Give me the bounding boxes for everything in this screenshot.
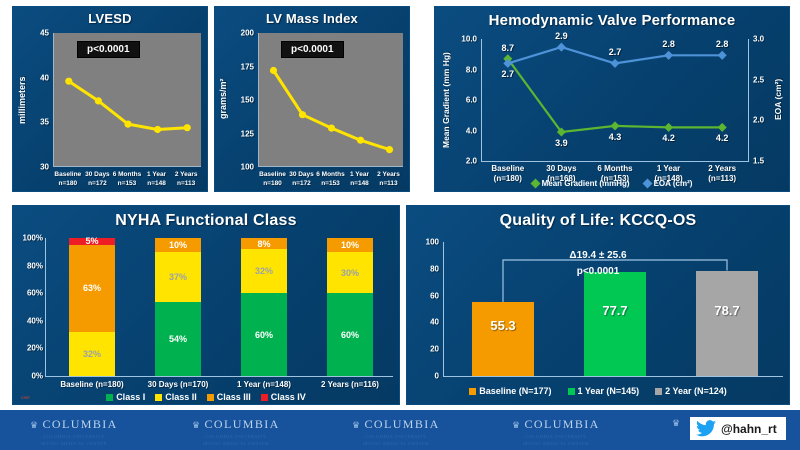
logo-name: COLUMBIA bbox=[205, 417, 280, 431]
x-label: Baseline n=180 bbox=[258, 170, 287, 188]
y-axis-ticks-kccq: 100 80 60 40 20 0 bbox=[413, 242, 439, 376]
y-tick: 30 bbox=[40, 163, 49, 172]
legend-swatch-icon bbox=[155, 394, 162, 401]
bar-segment: 5% bbox=[69, 238, 115, 245]
y-tick: 3.0 bbox=[753, 35, 764, 44]
data-label: 4.3 bbox=[609, 132, 622, 142]
legend-item[interactable]: 2 Year (N=124) bbox=[655, 386, 727, 396]
x-label-text: Baseline bbox=[53, 170, 83, 179]
y-tick: 125 bbox=[241, 129, 254, 138]
logo-name: COLUMBIA bbox=[525, 417, 600, 431]
bar-group-nyha: 5%63%32%10%37%54%8%32%60%10%30%60% bbox=[49, 238, 393, 376]
x-axis-labels-lvmass: Baseline n=180 30 Days n=172 6 Months n=… bbox=[258, 170, 403, 188]
legend-label: 1 Year (N=145) bbox=[578, 386, 640, 396]
x-label: Baseline n=180 bbox=[53, 170, 83, 188]
logo-sub1: COLUMBIA UNIVERSITY bbox=[512, 434, 600, 440]
y-axis-ticks-nyha: 100% 80% 60% 40% 20% 0% bbox=[15, 238, 43, 376]
bar-segment: 60% bbox=[241, 293, 287, 376]
legend-item[interactable]: Class IV bbox=[261, 392, 306, 402]
chart-title-hemodynamic: Hemodynamic Valve Performance bbox=[435, 12, 789, 29]
legend-item[interactable]: EOA (cm²) bbox=[644, 179, 693, 188]
legend-label: EOA (cm²) bbox=[654, 179, 693, 188]
bar-column[interactable]: 8%32%60% bbox=[221, 238, 307, 376]
logo-name: COLUMBIA bbox=[43, 417, 118, 431]
legend-marker-diamond-icon bbox=[642, 179, 652, 189]
y-axis-title-left-hemo: Mean Gradient (mm Hg) bbox=[441, 39, 453, 161]
x-label-count: n=153 bbox=[316, 179, 345, 188]
legend-swatch-icon bbox=[106, 394, 113, 401]
chart-panel-hemodynamic: Hemodynamic Valve Performance Mean Gradi… bbox=[434, 6, 790, 192]
logo-name: COLUMBIA bbox=[365, 417, 440, 431]
data-label: 2.7 bbox=[609, 47, 622, 57]
bar-segment: 8% bbox=[241, 238, 287, 249]
x-label: 1 Year n=148 bbox=[142, 170, 172, 188]
y-tick: 40% bbox=[27, 316, 43, 325]
bar-segment: 10% bbox=[327, 238, 373, 252]
x-label: 2 Years n=113 bbox=[171, 170, 201, 188]
logo-sub1: COLUMBIA UNIVERSITY bbox=[30, 434, 118, 440]
x-label-text: 6 Months bbox=[316, 170, 345, 179]
legend-label: 2 Year (N=124) bbox=[665, 386, 727, 396]
legend-label: Mean Gradient (mmHg) bbox=[542, 179, 630, 188]
footer-bar: ♛ COLUMBIA COLUMBIA UNIVERSITY IRVING ME… bbox=[0, 410, 800, 450]
y-tick: 20% bbox=[27, 344, 43, 353]
x-label: 30 Days (n=170) bbox=[135, 380, 221, 389]
data-label: 2.8 bbox=[716, 39, 729, 49]
x-label-text: 6 Months bbox=[588, 164, 642, 174]
chart-panel-lvesd: LVESD millimeters 45 40 35 30 p<0.0001 B… bbox=[12, 6, 208, 192]
y-tick: 40 bbox=[430, 318, 439, 327]
chart-panel-nyha: NYHA Functional Class 100% 80% 60% 40% 2… bbox=[12, 205, 400, 405]
legend-item[interactable]: Mean Gradient (mmHg) bbox=[532, 179, 630, 188]
legend-kccq: Baseline (N=177) 1 Year (N=145) 2 Year (… bbox=[407, 386, 789, 396]
columbia-logo: ♛ COLUMBIA COLUMBIA UNIVERSITY IRVING ME… bbox=[192, 415, 280, 447]
x-label-text: 2 Years bbox=[695, 164, 749, 174]
chart-title-kccq: Quality of Life: KCCQ-OS bbox=[407, 212, 789, 230]
legend-label: Class I bbox=[116, 392, 145, 402]
y-tick: 150 bbox=[241, 96, 254, 105]
pvalue-badge-lvmass: p<0.0001 bbox=[281, 41, 344, 58]
y-tick: 10.0 bbox=[461, 35, 477, 44]
slide-root: LVESD millimeters 45 40 35 30 p<0.0001 B… bbox=[0, 0, 800, 450]
y-axis-title-lvmass: grams/m² bbox=[218, 49, 230, 149]
crown-icon: ♛ bbox=[352, 420, 360, 430]
twitter-badge[interactable]: @hahn_rt bbox=[690, 417, 786, 440]
y-tick: 35 bbox=[40, 118, 49, 127]
y-tick: 60 bbox=[430, 291, 439, 300]
x-label: 1 Year n=148 bbox=[345, 170, 374, 188]
data-label: 2.7 bbox=[502, 69, 515, 79]
y-tick: 45 bbox=[40, 29, 49, 38]
chart-title-lvesd: LVESD bbox=[13, 11, 207, 26]
x-label-text: 2 Years bbox=[374, 170, 403, 179]
y-tick: 0% bbox=[31, 372, 43, 381]
y-axis-ticks-lvmass: 200 175 150 125 100 bbox=[230, 33, 254, 167]
watermark-logo: CRF bbox=[21, 395, 30, 400]
x-axis-labels-lvesd: Baseline n=180 30 Days n=172 6 Months n=… bbox=[53, 170, 201, 188]
x-label: 2 Years (n=116) bbox=[307, 380, 393, 389]
x-label-count: n=153 bbox=[112, 179, 142, 188]
legend-swatch-icon bbox=[568, 388, 575, 395]
chart-panel-kccq: Quality of Life: KCCQ-OS 100 80 60 40 20… bbox=[406, 205, 790, 405]
x-label-text: Baseline bbox=[481, 164, 535, 174]
y-tick: 200 bbox=[241, 29, 254, 38]
axis-line-bottom-hemo bbox=[481, 161, 749, 162]
legend-swatch-icon bbox=[261, 394, 268, 401]
x-label: Baseline (n=180) bbox=[49, 380, 135, 389]
chart-title-lvmass: LV Mass Index bbox=[215, 11, 409, 26]
x-label-text: 30 Days bbox=[535, 164, 589, 174]
y-axis-ticks-left-hemo: 10.0 8.0 6.0 4.0 2.0 bbox=[453, 39, 477, 161]
logo-sub1: COLUMBIA UNIVERSITY bbox=[352, 434, 440, 440]
y-tick: 100 bbox=[426, 238, 439, 247]
y-tick: 0 bbox=[435, 372, 439, 381]
axis-baseline-nyha bbox=[45, 376, 393, 377]
y-axis-ticks-lvesd: 45 40 35 30 bbox=[29, 33, 49, 167]
columbia-logo: ♛ COLUMBIA COLUMBIA UNIVERSITY IRVING ME… bbox=[30, 415, 118, 447]
x-label-count: n=180 bbox=[258, 179, 287, 188]
x-label-text: 30 Days bbox=[287, 170, 316, 179]
y-tick: 40 bbox=[40, 73, 49, 82]
legend-hemodynamic: Mean Gradient (mmHg) EOA (cm²) bbox=[435, 179, 789, 188]
x-label: 30 Days n=172 bbox=[287, 170, 316, 188]
legend-item[interactable]: Baseline (N=177) bbox=[469, 386, 551, 396]
x-label-count: n=113 bbox=[171, 179, 201, 188]
legend-swatch-icon bbox=[207, 394, 214, 401]
y-tick: 20 bbox=[430, 345, 439, 354]
legend-label: Class IV bbox=[271, 392, 306, 402]
y-tick: 1.5 bbox=[753, 157, 764, 166]
bar-column[interactable]: 10%37%54% bbox=[135, 238, 221, 376]
logo-sub2: IRVING MEDICAL CENTER bbox=[512, 441, 600, 447]
x-label-count: n=172 bbox=[83, 179, 113, 188]
crown-icon: ♛ bbox=[30, 420, 38, 430]
y-tick: 100 bbox=[241, 163, 254, 172]
x-label-count: n=113 bbox=[374, 179, 403, 188]
bar-segment: 54% bbox=[155, 302, 201, 376]
y-tick: 2.0 bbox=[466, 157, 477, 166]
y-tick: 60% bbox=[27, 289, 43, 298]
y-tick: 2.0 bbox=[753, 116, 764, 125]
x-label: 1 Year (n=148) bbox=[221, 380, 307, 389]
x-label: 2 Years n=113 bbox=[374, 170, 403, 188]
data-label: 4.2 bbox=[716, 133, 729, 143]
y-tick: 8.0 bbox=[466, 65, 477, 74]
legend-item[interactable]: 1 Year (N=145) bbox=[568, 386, 640, 396]
x-label-text: 1 Year bbox=[345, 170, 374, 179]
data-label: 4.2 bbox=[662, 133, 675, 143]
legend-label: Class III bbox=[217, 392, 251, 402]
x-label-text: 1 Year bbox=[642, 164, 696, 174]
logo-sub1: COLUMBIA UNIVERSITY bbox=[192, 434, 280, 440]
x-label: 30 Days n=172 bbox=[83, 170, 113, 188]
x-label-count: n=172 bbox=[287, 179, 316, 188]
data-label: 3.9 bbox=[555, 138, 568, 148]
columbia-logo: ♛ COLUMBIA COLUMBIA UNIVERSITY IRVING ME… bbox=[512, 415, 600, 447]
crown-icon: ♛ bbox=[192, 420, 200, 430]
legend-item[interactable]: Class III bbox=[207, 392, 251, 402]
chart-title-nyha: NYHA Functional Class bbox=[13, 212, 399, 230]
logo-sub2: IRVING MEDICAL CENTER bbox=[352, 441, 440, 447]
data-label: 2.8 bbox=[662, 39, 675, 49]
data-labels-hemodynamic: 8.73.94.34.24.22.72.92.72.82.8 bbox=[481, 39, 749, 161]
logo-sub2: IRVING MEDICAL CENTER bbox=[30, 441, 118, 447]
x-axis-labels-nyha: Baseline (n=180) 30 Days (n=170) 1 Year … bbox=[49, 380, 393, 389]
x-label-text: 6 Months bbox=[112, 170, 142, 179]
crown-icon: ♛ bbox=[672, 418, 680, 429]
columbia-logo: ♛ COLUMBIA COLUMBIA UNIVERSITY IRVING ME… bbox=[352, 415, 440, 447]
x-label-count: n=148 bbox=[142, 179, 172, 188]
axis-baseline-kccq bbox=[443, 376, 783, 377]
axis-line-nyha bbox=[45, 238, 46, 376]
crown-icon: ♛ bbox=[512, 420, 520, 430]
x-label-text: 2 Years bbox=[171, 170, 201, 179]
annotation-delta-kccq: Δ19.4 ± 25.6 bbox=[407, 250, 789, 261]
bar-segment: 10% bbox=[155, 238, 201, 252]
legend-item[interactable]: Class II bbox=[155, 392, 197, 402]
data-label: 2.9 bbox=[555, 31, 568, 41]
x-label-text: Baseline bbox=[258, 170, 287, 179]
bar-segment: 32% bbox=[241, 249, 287, 293]
legend-label: Baseline (N=177) bbox=[479, 386, 551, 396]
x-label-text: 30 Days bbox=[83, 170, 113, 179]
bar-segment: 32% bbox=[69, 332, 115, 376]
bar-column[interactable]: 10%30%60% bbox=[307, 238, 393, 376]
bar-segment: 60% bbox=[327, 293, 373, 376]
y-tick: 6.0 bbox=[466, 96, 477, 105]
twitter-handle: @hahn_rt bbox=[721, 422, 777, 436]
legend-item[interactable]: Class I bbox=[106, 392, 145, 402]
bar-segment: 30% bbox=[327, 252, 373, 293]
data-label: 8.7 bbox=[502, 43, 515, 53]
logo-sub2: IRVING MEDICAL CENTER bbox=[192, 441, 280, 447]
x-label-count: n=148 bbox=[345, 179, 374, 188]
y-tick: 2.5 bbox=[753, 75, 764, 84]
y-axis-title-lvesd: millimeters bbox=[17, 47, 29, 153]
bar-column[interactable]: 5%63%32% bbox=[49, 238, 135, 376]
y-tick: 100% bbox=[23, 234, 43, 243]
twitter-icon bbox=[696, 420, 716, 437]
x-label: 6 Months n=153 bbox=[112, 170, 142, 188]
bar-segment: 37% bbox=[155, 252, 201, 303]
x-label: 6 Months n=153 bbox=[316, 170, 345, 188]
bar-segment: 63% bbox=[69, 245, 115, 332]
significance-bracket-kccq bbox=[447, 242, 783, 376]
y-tick: 4.0 bbox=[466, 126, 477, 135]
legend-marker-diamond-icon bbox=[530, 179, 540, 189]
legend-label: Class II bbox=[165, 392, 197, 402]
y-axis-ticks-right-hemo: 3.0 2.5 2.0 1.5 bbox=[753, 39, 773, 161]
legend-swatch-icon bbox=[469, 388, 476, 395]
chart-panel-lvmass: LV Mass Index grams/m² 200 175 150 125 1… bbox=[214, 6, 410, 192]
axis-line-kccq bbox=[443, 242, 444, 376]
legend-swatch-icon bbox=[655, 388, 662, 395]
annotation-pvalue-kccq: p<0.0001 bbox=[407, 266, 789, 277]
x-label-count: n=180 bbox=[53, 179, 83, 188]
legend-nyha: Class I Class II Class III Class IV bbox=[13, 392, 399, 402]
y-tick: 175 bbox=[241, 62, 254, 71]
y-axis-title-right-hemo: EOA (cm²) bbox=[773, 59, 785, 139]
pvalue-badge-lvesd: p<0.0001 bbox=[77, 41, 140, 58]
x-label-text: 1 Year bbox=[142, 170, 172, 179]
y-tick: 80% bbox=[27, 261, 43, 270]
